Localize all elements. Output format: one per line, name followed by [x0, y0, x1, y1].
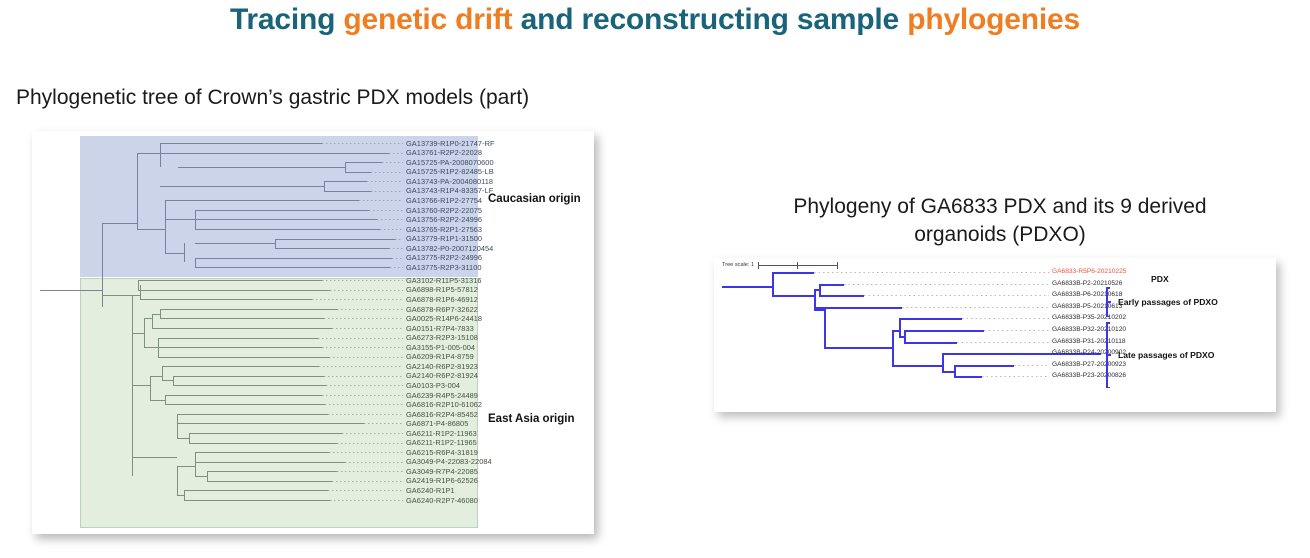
phylo-branch-vertical	[824, 309, 826, 348]
tree-branch-horizontal	[160, 186, 324, 187]
tree-leaf-label: GA6816-R2P10-61062	[406, 400, 482, 409]
tree-scale: Tree scale: 1	[722, 262, 838, 268]
phylo-branch-horizontal	[772, 295, 814, 297]
tree-branch-horizontal	[275, 248, 389, 249]
tree-branch-horizontal	[177, 438, 189, 439]
tree-branch-horizontal	[162, 380, 173, 381]
tree-leaf-label: GA3102-R11P5-31316	[406, 276, 482, 285]
tree-leaf-label: GA15725-R1P2-82485-LB	[406, 167, 494, 176]
tree-branch-horizontal	[207, 481, 332, 482]
tree-branch-horizontal	[132, 457, 177, 458]
tree-branch-horizontal	[144, 318, 152, 319]
tree-leaf-label: GA0151-R7P4-7833	[406, 324, 474, 333]
leaf-leader-dots	[382, 162, 403, 163]
phylo-branch-horizontal	[819, 284, 844, 286]
tree-leaf-label: GA13760-R2P2-22075	[406, 206, 482, 215]
tree-branch-horizontal	[173, 385, 326, 386]
leaf-leader-dots	[329, 452, 403, 453]
tree-branch-vertical	[140, 285, 141, 299]
leaf-leader-dots	[371, 172, 403, 173]
tree-branch-horizontal	[132, 385, 150, 386]
left-panel-caption: Phylogenetic tree of Crown’s gastric PDX…	[16, 86, 529, 110]
tree-branch-horizontal	[160, 318, 324, 319]
tree-branch-horizontal	[324, 181, 367, 182]
tree-branch-horizontal	[150, 376, 162, 377]
phylo-leaf-label: GA6833B-P27-20200923	[1052, 361, 1126, 368]
annotation-pdx: PDX	[1151, 274, 1169, 284]
tree-branch-horizontal	[173, 376, 324, 377]
tree-branch-vertical	[165, 200, 166, 219]
leaf-leader-dots	[330, 500, 403, 501]
right-caption-line-1: Phylogeny of GA6833 PDX and its 9 derive…	[793, 195, 1206, 218]
left-tree-panel: GA13739-R1P0-21747-RFGA13761-R2P2-22028G…	[32, 131, 594, 534]
leaf-leader-dots	[337, 309, 403, 310]
phylo-branch-horizontal	[814, 307, 902, 309]
phylo-branch-horizontal	[722, 286, 772, 288]
tree-leaf-label: GA0103-P3-004	[406, 381, 460, 390]
leaf-leader-dots	[324, 376, 403, 377]
tree-branch-horizontal	[160, 143, 322, 144]
tree-branch-horizontal	[207, 471, 337, 472]
phylo-branch-horizontal	[954, 365, 1014, 367]
phylo-leaf-leader-dots	[844, 284, 1049, 285]
phylo-branch-horizontal	[892, 330, 899, 332]
tree-leaf-label: GA6240-R1P1	[406, 486, 455, 495]
tree-branch-vertical	[160, 309, 161, 319]
phylo-branch-horizontal	[904, 342, 957, 344]
tree-leaf-label: GA6878-R6P7-32622	[406, 305, 478, 314]
tree-leaf-label: GA2140-R6P2-81923	[406, 362, 478, 371]
annotation-early-passages: Early passages of PDXO	[1118, 297, 1218, 307]
leaf-leader-dots	[322, 347, 403, 348]
leaf-leader-dots	[359, 200, 403, 201]
tree-branch-horizontal	[158, 347, 322, 348]
tree-branch-horizontal	[178, 167, 345, 168]
tree-branch-horizontal	[195, 452, 329, 453]
tree-leaf-label: GA13766-R1P2-27754	[406, 196, 482, 205]
leaf-leader-dots	[318, 338, 403, 339]
leaf-leader-dots	[380, 229, 403, 230]
tree-branch-horizontal	[195, 267, 390, 268]
tree-branch-horizontal	[177, 423, 364, 424]
tree-branch-horizontal	[206, 219, 377, 220]
title-segment-1: Tracing	[230, 3, 343, 36]
tree-leaf-label: GA3155-P1-005-004	[406, 343, 475, 352]
tree-branch-horizontal	[132, 333, 144, 334]
tree-branch-vertical	[184, 490, 185, 500]
tree-branch-vertical	[162, 366, 163, 380]
phylo-branch-vertical	[954, 365, 956, 377]
phylo-leaf-leader-dots	[962, 318, 1049, 319]
tree-branch-horizontal	[165, 200, 359, 201]
phylo-branch-vertical	[942, 353, 944, 370]
tree-leaf-label: GA15725-PA-2008070600	[406, 158, 494, 167]
leaf-leader-dots	[330, 290, 403, 291]
tree-branch-vertical	[158, 347, 159, 357]
leaf-leader-dots	[322, 143, 403, 144]
leaf-leader-dots	[337, 443, 403, 444]
tree-leaf-label: GA6273-R2P3-15108	[406, 333, 478, 342]
leaf-leader-dots	[342, 433, 403, 434]
leaf-leader-dots	[328, 414, 403, 415]
tree-branch-vertical	[138, 280, 139, 290]
tree-branch-vertical	[165, 395, 166, 405]
tree-branch-horizontal	[195, 219, 206, 220]
tree-branch-vertical	[207, 471, 208, 481]
phylo-branch-horizontal	[899, 318, 962, 320]
phylo-leaf-label: GA6833B-P32-20210120	[1052, 326, 1126, 333]
tree-branch-vertical	[165, 219, 166, 252]
leaf-leader-dots	[332, 328, 403, 329]
tree-branch-horizontal	[184, 500, 330, 501]
tree-branch-vertical	[160, 148, 161, 167]
group-label-east-asia: East Asia origin	[488, 413, 575, 425]
tree-branch-horizontal	[275, 239, 395, 240]
tree-branch-vertical	[173, 376, 174, 386]
tree-branch-horizontal	[189, 433, 342, 434]
phylo-branch-horizontal	[814, 309, 824, 311]
phylo-branch-horizontal	[954, 376, 982, 378]
tree-branch-horizontal	[177, 414, 328, 415]
tree-branch-vertical	[184, 243, 185, 262]
tree-branch-vertical	[158, 338, 159, 348]
phylo-leaf-label: GA6833B-P31-20210118	[1052, 338, 1126, 345]
tree-branch-horizontal	[184, 490, 328, 491]
tree-branch-horizontal	[195, 210, 369, 211]
phylo-branch-horizontal	[904, 330, 984, 332]
tree-leaf-label: GA6816-R2P4-85452	[406, 410, 478, 419]
leaf-leader-dots	[322, 395, 403, 396]
leaf-leader-dots	[377, 219, 403, 220]
phylo-leaf-label: GA6833B-P6-20210618	[1052, 291, 1122, 298]
phylo-branch-vertical	[899, 318, 901, 335]
tree-leaf-label: GA6878-R1P6-46912	[406, 295, 478, 304]
phylo-branch-horizontal	[819, 295, 864, 297]
tree-branch-horizontal	[158, 357, 329, 358]
tree-leaf-label: GA13779-R1P1-31500	[406, 234, 482, 243]
phylo-leaf-leader-dots	[902, 307, 1049, 308]
scale-tick-end	[837, 262, 838, 269]
tree-branch-vertical	[137, 153, 138, 229]
tree-leaf-label: GA13775-R2P3-31100	[406, 263, 482, 272]
tree-branch-horizontal	[177, 466, 195, 467]
phylo-branch-vertical	[772, 272, 774, 295]
slide-title: Tracing genetic drift and reconstructing…	[0, 3, 1310, 37]
annotation-late-passages: Late passages of PDXO	[1118, 350, 1214, 360]
phylo-branch-horizontal	[772, 272, 814, 274]
phylo-branch-horizontal	[942, 371, 954, 373]
leaf-leader-dots	[371, 191, 403, 192]
tree-leaf-label: GA2140-R6P2-81924	[406, 371, 478, 380]
tree-branch-vertical	[345, 162, 346, 172]
leaf-leader-dots	[326, 385, 403, 386]
leaf-leader-dots	[324, 318, 403, 319]
scale-bar-line	[758, 265, 838, 266]
tree-branch-horizontal	[195, 243, 275, 244]
phylo-leaf-leader-dots	[864, 295, 1049, 296]
phylo-branch-vertical	[819, 284, 821, 296]
leaf-leader-dots	[322, 280, 403, 281]
tree-branch-vertical	[152, 314, 153, 328]
phylo-leaf-leader-dots	[957, 342, 1049, 343]
tree-branch-horizontal	[137, 229, 165, 230]
tree-leaf-label: GA6871-P4-86805	[406, 419, 468, 428]
leaf-leader-dots	[392, 258, 403, 259]
tree-branch-horizontal	[160, 309, 337, 310]
leaf-leader-dots	[367, 181, 403, 182]
tree-leaf-label: GA6211-R1P2-11965	[406, 438, 477, 447]
tree-branch-horizontal	[160, 153, 389, 154]
tree-branch-horizontal	[324, 191, 371, 192]
tree-branch-vertical	[177, 466, 178, 495]
tree-branch-horizontal	[165, 219, 195, 220]
tree-leaf-label: GA0025-R14P6-24418	[406, 314, 482, 323]
leaf-leader-dots	[390, 267, 403, 268]
leaf-leader-dots	[369, 210, 403, 211]
phylo-leaf-label: GA6833B-P23-20200826	[1052, 372, 1126, 379]
tree-branch-horizontal	[152, 314, 160, 315]
tree-leaf-label: GA13765-R2P1-27563	[406, 225, 482, 234]
tree-branch-horizontal	[177, 495, 184, 496]
slide-canvas: Tracing genetic drift and reconstructing…	[0, 0, 1310, 558]
tree-leaf-label: GA13743-R1P4-83357-LF	[406, 186, 493, 195]
right-caption-line-2: organoids (PDXO)	[914, 223, 1086, 246]
right-phylogeny-card: Tree scale: 1 GA6833-R5P6-20210225GA6833…	[714, 258, 1276, 412]
tree-branch-vertical	[177, 419, 178, 438]
tree-branch-horizontal	[165, 404, 325, 405]
tree-branch-horizontal	[137, 153, 160, 154]
tree-branch-horizontal	[162, 366, 319, 367]
phylo-branch-vertical	[814, 289, 816, 306]
tree-branch-vertical	[324, 181, 325, 191]
tree-leaf-label: GA13782-P0-2007120454	[406, 244, 493, 253]
phylo-leaf-label: GA6833B-P35-20210202	[1052, 314, 1126, 321]
tree-leaf-label: GA6898-R1P5-57812	[406, 285, 478, 294]
tree-branch-horizontal	[195, 229, 380, 230]
leaf-leader-dots	[325, 404, 403, 405]
tree-branch-horizontal	[144, 347, 158, 348]
tree-branch-vertical	[195, 258, 196, 268]
tree-leaf-label: GA6211-R1P2-11963	[406, 429, 477, 438]
tree-branch-vertical	[195, 457, 196, 476]
leaf-leader-dots	[345, 462, 403, 463]
leaf-leader-dots	[329, 357, 403, 358]
tree-branch-horizontal	[189, 443, 337, 444]
tree-leaf-label: GA13739-R1P0-21747-RF	[406, 139, 495, 148]
tree-branch-horizontal	[345, 162, 382, 163]
tree-branch-horizontal	[150, 400, 165, 401]
bracket-late-stem	[1106, 354, 1111, 356]
leaf-leader-dots	[337, 471, 403, 472]
tree-branch-vertical	[275, 239, 276, 249]
leaf-leader-dots	[364, 423, 403, 424]
tree-branch-vertical	[144, 318, 145, 347]
right-panel-caption: Phylogeny of GA6833 PDX and its 9 derive…	[700, 193, 1300, 248]
phylo-branch-vertical	[892, 330, 894, 365]
tree-branch-horizontal	[158, 338, 318, 339]
tree-leaf-label: GA6239-R4P5-24489	[406, 391, 478, 400]
left-phylogenetic-tree-card: GA13739-R1P0-21747-RFGA13761-R2P2-22028G…	[32, 131, 594, 534]
tree-leaf-label: GA3049-P4-22083-22084	[406, 457, 492, 466]
tree-leaf-label: GA6240-R2P7-46080	[406, 496, 478, 505]
tree-leaf-label: GA13743-PA-2004080118	[406, 177, 493, 186]
tree-branch-horizontal	[152, 328, 332, 329]
phylo-leaf-leader-dots	[982, 376, 1049, 377]
tree-scale-label: Tree scale: 1	[722, 262, 754, 268]
leaf-leader-dots	[395, 239, 403, 240]
tree-leaf-label: GA6209-R1P4-8759	[406, 352, 474, 361]
group-label-caucasian: Caucasian origin	[488, 193, 581, 205]
phylo-leaf-label: GA6833B-P5-20210613	[1052, 303, 1122, 310]
tree-branch-vertical	[189, 433, 190, 443]
tree-branch-horizontal	[195, 258, 392, 259]
tree-leaf-label: GA3049-R7P4-22085	[406, 467, 478, 476]
phylo-branch-horizontal	[824, 347, 892, 349]
scale-tick-start	[758, 262, 759, 269]
tree-leaf-label: GA6215-R6P4-31819	[406, 448, 478, 457]
tree-branch-horizontal	[102, 223, 137, 224]
tree-branch-horizontal	[345, 172, 371, 173]
tree-leaf-label: GA2419-R1P6-62526	[406, 476, 478, 485]
tree-branch-horizontal	[40, 290, 102, 291]
tree-branch-horizontal	[195, 476, 207, 477]
leaf-leader-dots	[389, 153, 403, 154]
tree-leaf-label: GA13775-R2P2-24996	[406, 253, 482, 262]
tree-leaf-label: GA13756-R2P2-24996	[406, 215, 482, 224]
phylo-leaf-label: GA6833-R5P6-20210225	[1052, 268, 1126, 275]
phylo-branch-horizontal	[892, 365, 942, 367]
phylo-leaf-leader-dots	[1014, 365, 1049, 366]
tree-branch-horizontal	[138, 280, 322, 281]
bracket-early-stem	[1106, 301, 1111, 303]
tree-scale-bar	[758, 262, 838, 268]
tree-branch-horizontal	[195, 462, 345, 463]
title-segment-2: genetic drift	[343, 3, 512, 36]
tree-branch-horizontal	[102, 295, 132, 296]
tree-branch-horizontal	[140, 299, 312, 300]
phylo-leaf-leader-dots	[984, 330, 1049, 331]
phylo-leaf-label: GA6833B-P24-20200902	[1052, 349, 1126, 356]
tree-leaf-label: GA13761-R2P2-22028	[406, 148, 482, 157]
leaf-leader-dots	[312, 299, 403, 300]
tree-branch-vertical	[150, 376, 151, 400]
phylo-leaf-leader-dots	[814, 272, 1049, 273]
tree-branch-horizontal	[165, 253, 184, 254]
leaf-leader-dots	[319, 366, 403, 367]
phylo-branch-vertical	[904, 330, 906, 342]
scale-tick-mid	[797, 262, 798, 269]
phylo-branch-horizontal	[899, 336, 904, 338]
leaf-leader-dots	[332, 481, 403, 482]
leaf-leader-dots	[328, 490, 403, 491]
title-segment-3: and reconstructing sample	[512, 3, 907, 36]
title-segment-4: phylogenies	[907, 3, 1080, 36]
tree-branch-horizontal	[165, 395, 322, 396]
tree-branch-horizontal	[138, 290, 330, 291]
phylo-leaf-label: GA6833B-P2-20210526	[1052, 280, 1122, 287]
leaf-leader-dots	[389, 248, 403, 249]
